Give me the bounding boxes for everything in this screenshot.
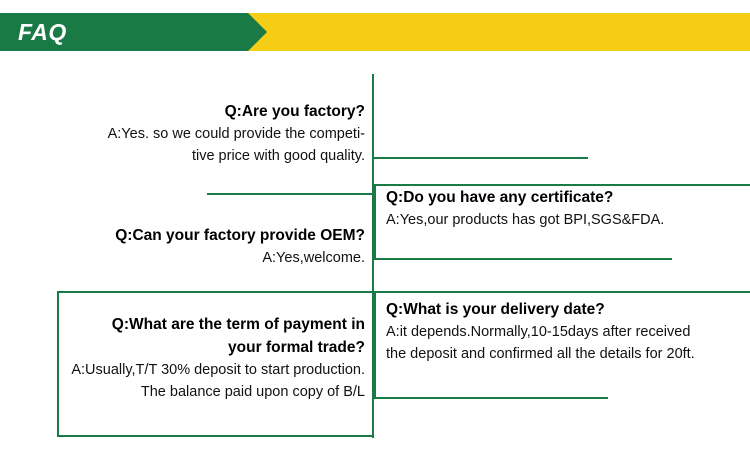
branch-line-faq-5-top bbox=[57, 291, 374, 293]
branch-line-faq-1 bbox=[374, 157, 588, 159]
faq-answer-1-line-1: A:Yes. so we could provide the competi- bbox=[20, 123, 365, 145]
faq-item-2: Q:Do you have any certificate? A:Yes,our… bbox=[386, 186, 736, 231]
faq-question-3: Q:Can your factory provide OEM? bbox=[20, 224, 365, 247]
faq-question-5-line-2: your formal trade? bbox=[14, 336, 365, 359]
faq-question-5-line-1: Q:What are the term of payment in bbox=[14, 313, 365, 336]
faq-question-4: Q:What is your delivery date? bbox=[386, 298, 741, 321]
branch-line-faq-3 bbox=[207, 193, 374, 195]
faq-answer-4-line-2: the deposit and confirmed all the detail… bbox=[386, 343, 741, 365]
banner-arrow-icon bbox=[248, 13, 267, 51]
faq-answer-5-line-1: A:Usually,T/T 30% deposit to start produ… bbox=[14, 359, 365, 381]
branch-line-faq-2-bottom bbox=[374, 258, 672, 260]
faq-infographic: FAQ Q:Are you factory? A:Yes. so we coul… bbox=[0, 0, 750, 461]
faq-answer-3-line-1: A:Yes,welcome. bbox=[20, 247, 365, 269]
branch-line-faq-4-top bbox=[374, 291, 750, 293]
page-title: FAQ bbox=[18, 20, 67, 44]
faq-item-4: Q:What is your delivery date? A:it depen… bbox=[386, 298, 741, 365]
faq-question-2: Q:Do you have any certificate? bbox=[386, 186, 736, 209]
faq-item-1: Q:Are you factory? A:Yes. so we could pr… bbox=[20, 100, 365, 167]
faq-item-3: Q:Can your factory provide OEM? A:Yes,we… bbox=[20, 224, 365, 269]
header-banner: FAQ bbox=[0, 13, 750, 51]
branch-line-faq-2-vertical bbox=[374, 184, 376, 260]
faq-answer-4-line-1: A:it depends.Normally,10-15days after re… bbox=[386, 321, 741, 343]
faq-answer-5-line-2: The balance paid upon copy of B/L bbox=[14, 381, 365, 403]
faq-item-5: Q:What are the term of payment in your f… bbox=[14, 313, 365, 403]
branch-line-faq-4-vertical bbox=[374, 291, 376, 399]
faq-question-1: Q:Are you factory? bbox=[20, 100, 365, 123]
faq-answer-1-line-2: tive price with good quality. bbox=[20, 145, 365, 167]
branch-line-faq-4-bottom bbox=[374, 397, 608, 399]
branch-line-faq-5-bottom bbox=[57, 435, 374, 437]
faq-answer-2-line-1: A:Yes,our products has got BPI,SGS&FDA. bbox=[386, 209, 736, 231]
